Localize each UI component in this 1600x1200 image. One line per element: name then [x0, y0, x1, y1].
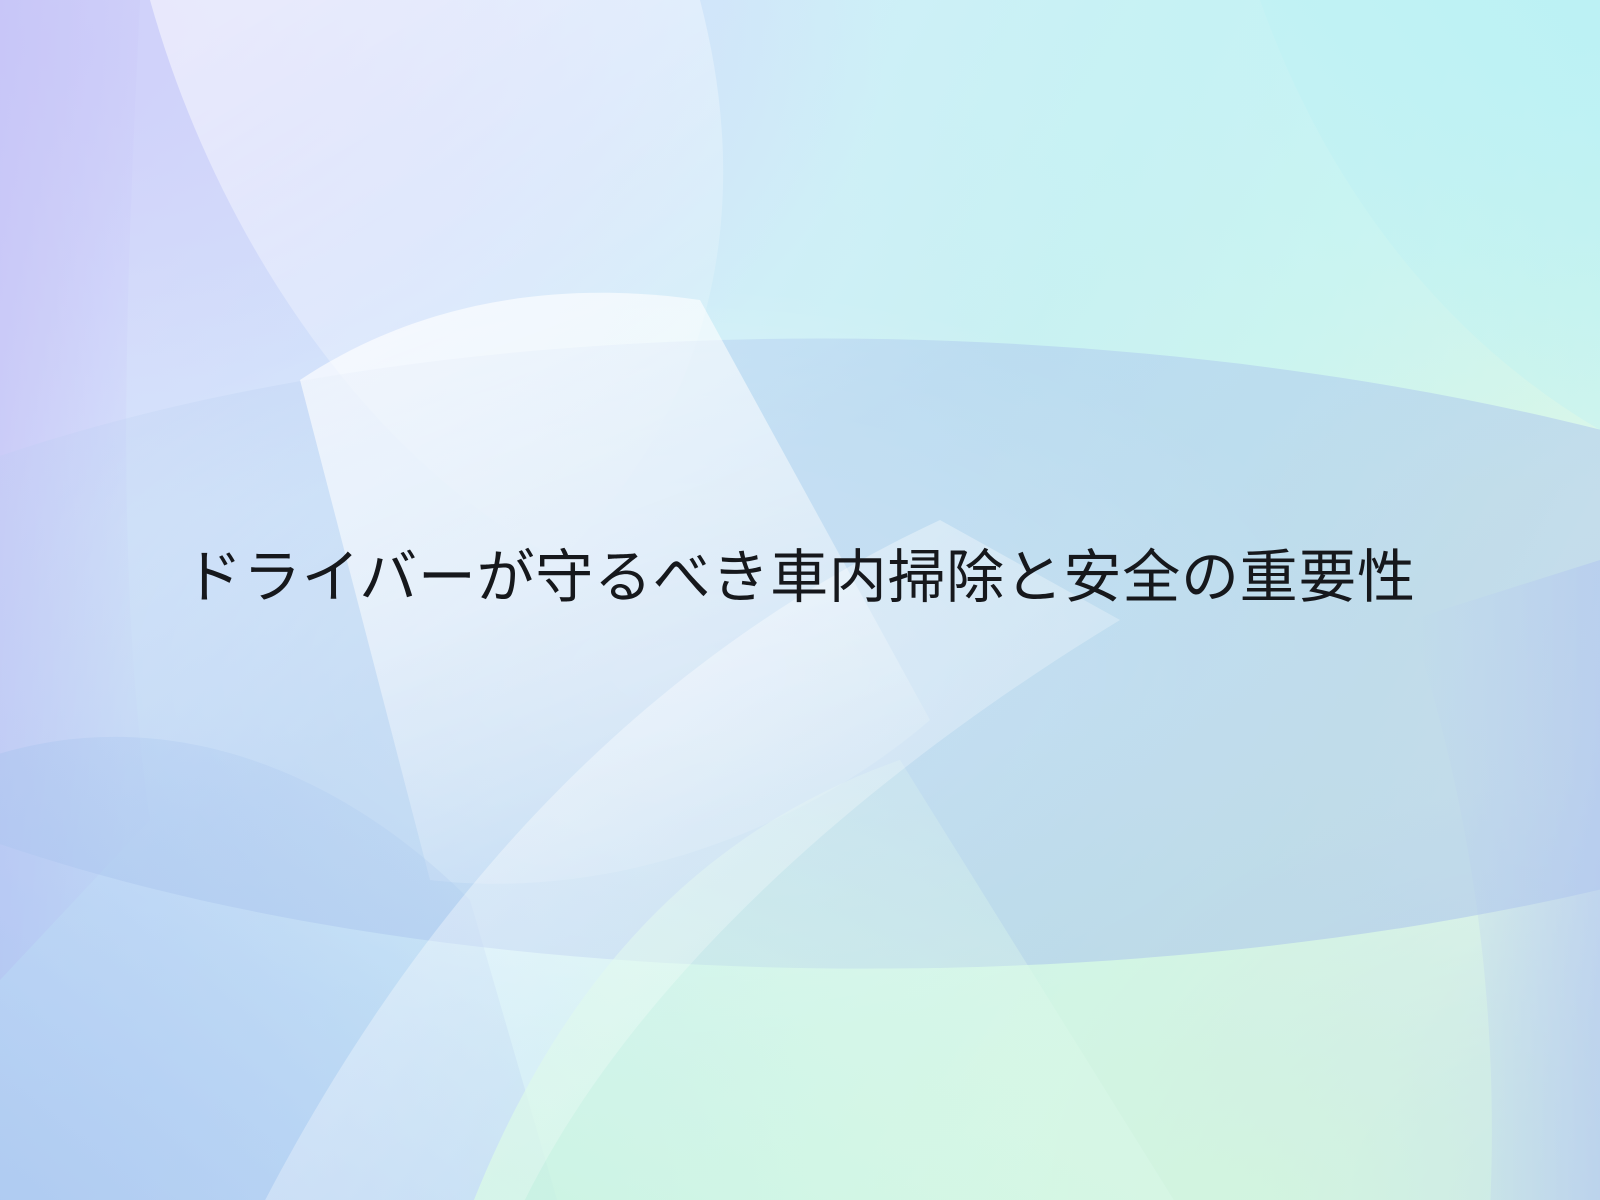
title-block: ドライバーが守るべき車内掃除と安全の重要性 — [0, 497, 1600, 657]
title-slide: ドライバーが守るべき車内掃除と安全の重要性 — [0, 0, 1600, 1200]
shape-top-right-cyan-wedge — [1260, 0, 1600, 430]
page-title: ドライバーが守るべき車内掃除と安全の重要性 — [184, 543, 1415, 611]
